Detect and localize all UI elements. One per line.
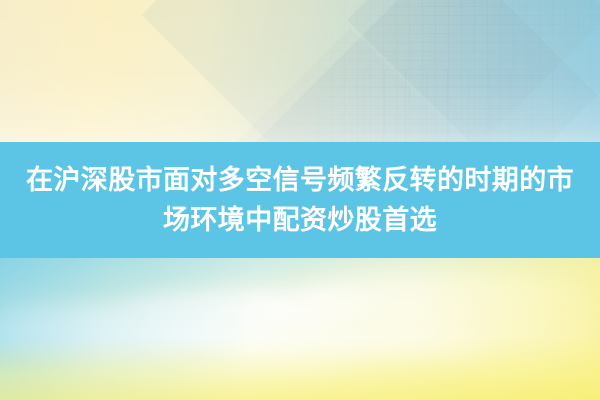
top-decorative-graphic xyxy=(0,0,600,142)
title-banner: 在沪深股市面对多空信号频繁反转的时期的市场环境中配资炒股首选 xyxy=(0,142,600,258)
bottom-sky-graphic xyxy=(0,258,600,400)
sky-bottom-gradient xyxy=(0,340,600,400)
banner-title-text: 在沪深股市面对多空信号频繁反转的时期的市场环境中配资炒股首选 xyxy=(20,160,580,240)
top-gradient-overlay xyxy=(0,0,600,142)
banner-image: 在沪深股市面对多空信号频繁反转的时期的市场环境中配资炒股首选 xyxy=(0,0,600,400)
